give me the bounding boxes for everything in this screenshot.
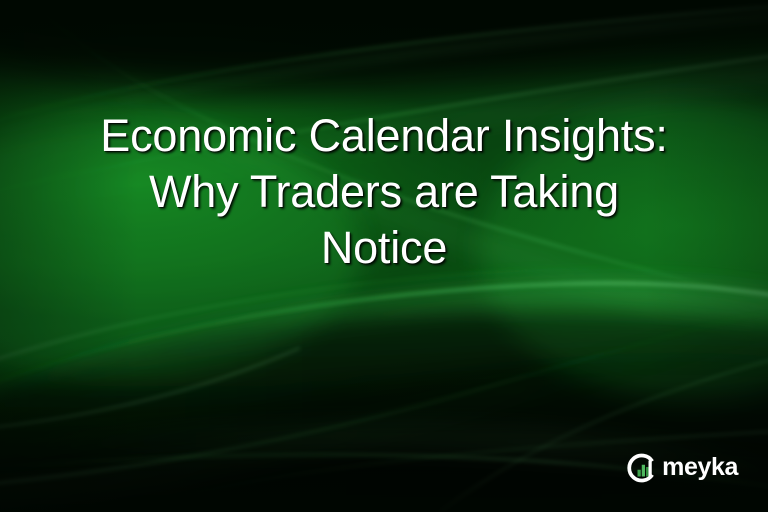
wave-mid-ribbon-2 xyxy=(0,268,768,368)
wave-mid-ribbon-glow xyxy=(0,291,768,404)
title-card-banner: Economic Calendar Insights: Why Traders … xyxy=(0,0,768,512)
meyka-logo[interactable]: meyka xyxy=(627,452,738,484)
wave-mid-ribbon xyxy=(0,283,768,392)
title-block: Economic Calendar Insights: Why Traders … xyxy=(0,108,768,276)
wave-filament-right xyxy=(440,352,768,512)
logo-wordmark: meyka xyxy=(662,455,738,481)
shadow-wave-top xyxy=(0,0,768,86)
title-line-3: Notice xyxy=(0,220,768,276)
logo-bar-2 xyxy=(642,465,645,477)
logo-bar-1 xyxy=(638,470,641,477)
circular-bar-chart-icon xyxy=(627,452,659,484)
logo-bar-accent xyxy=(649,461,652,477)
title-line-1: Economic Calendar Insights: xyxy=(0,108,768,164)
wave-mid-sheet xyxy=(0,283,768,470)
title-line-2: Why Traders are Taking xyxy=(0,164,768,220)
wave-filament-left xyxy=(0,348,300,430)
